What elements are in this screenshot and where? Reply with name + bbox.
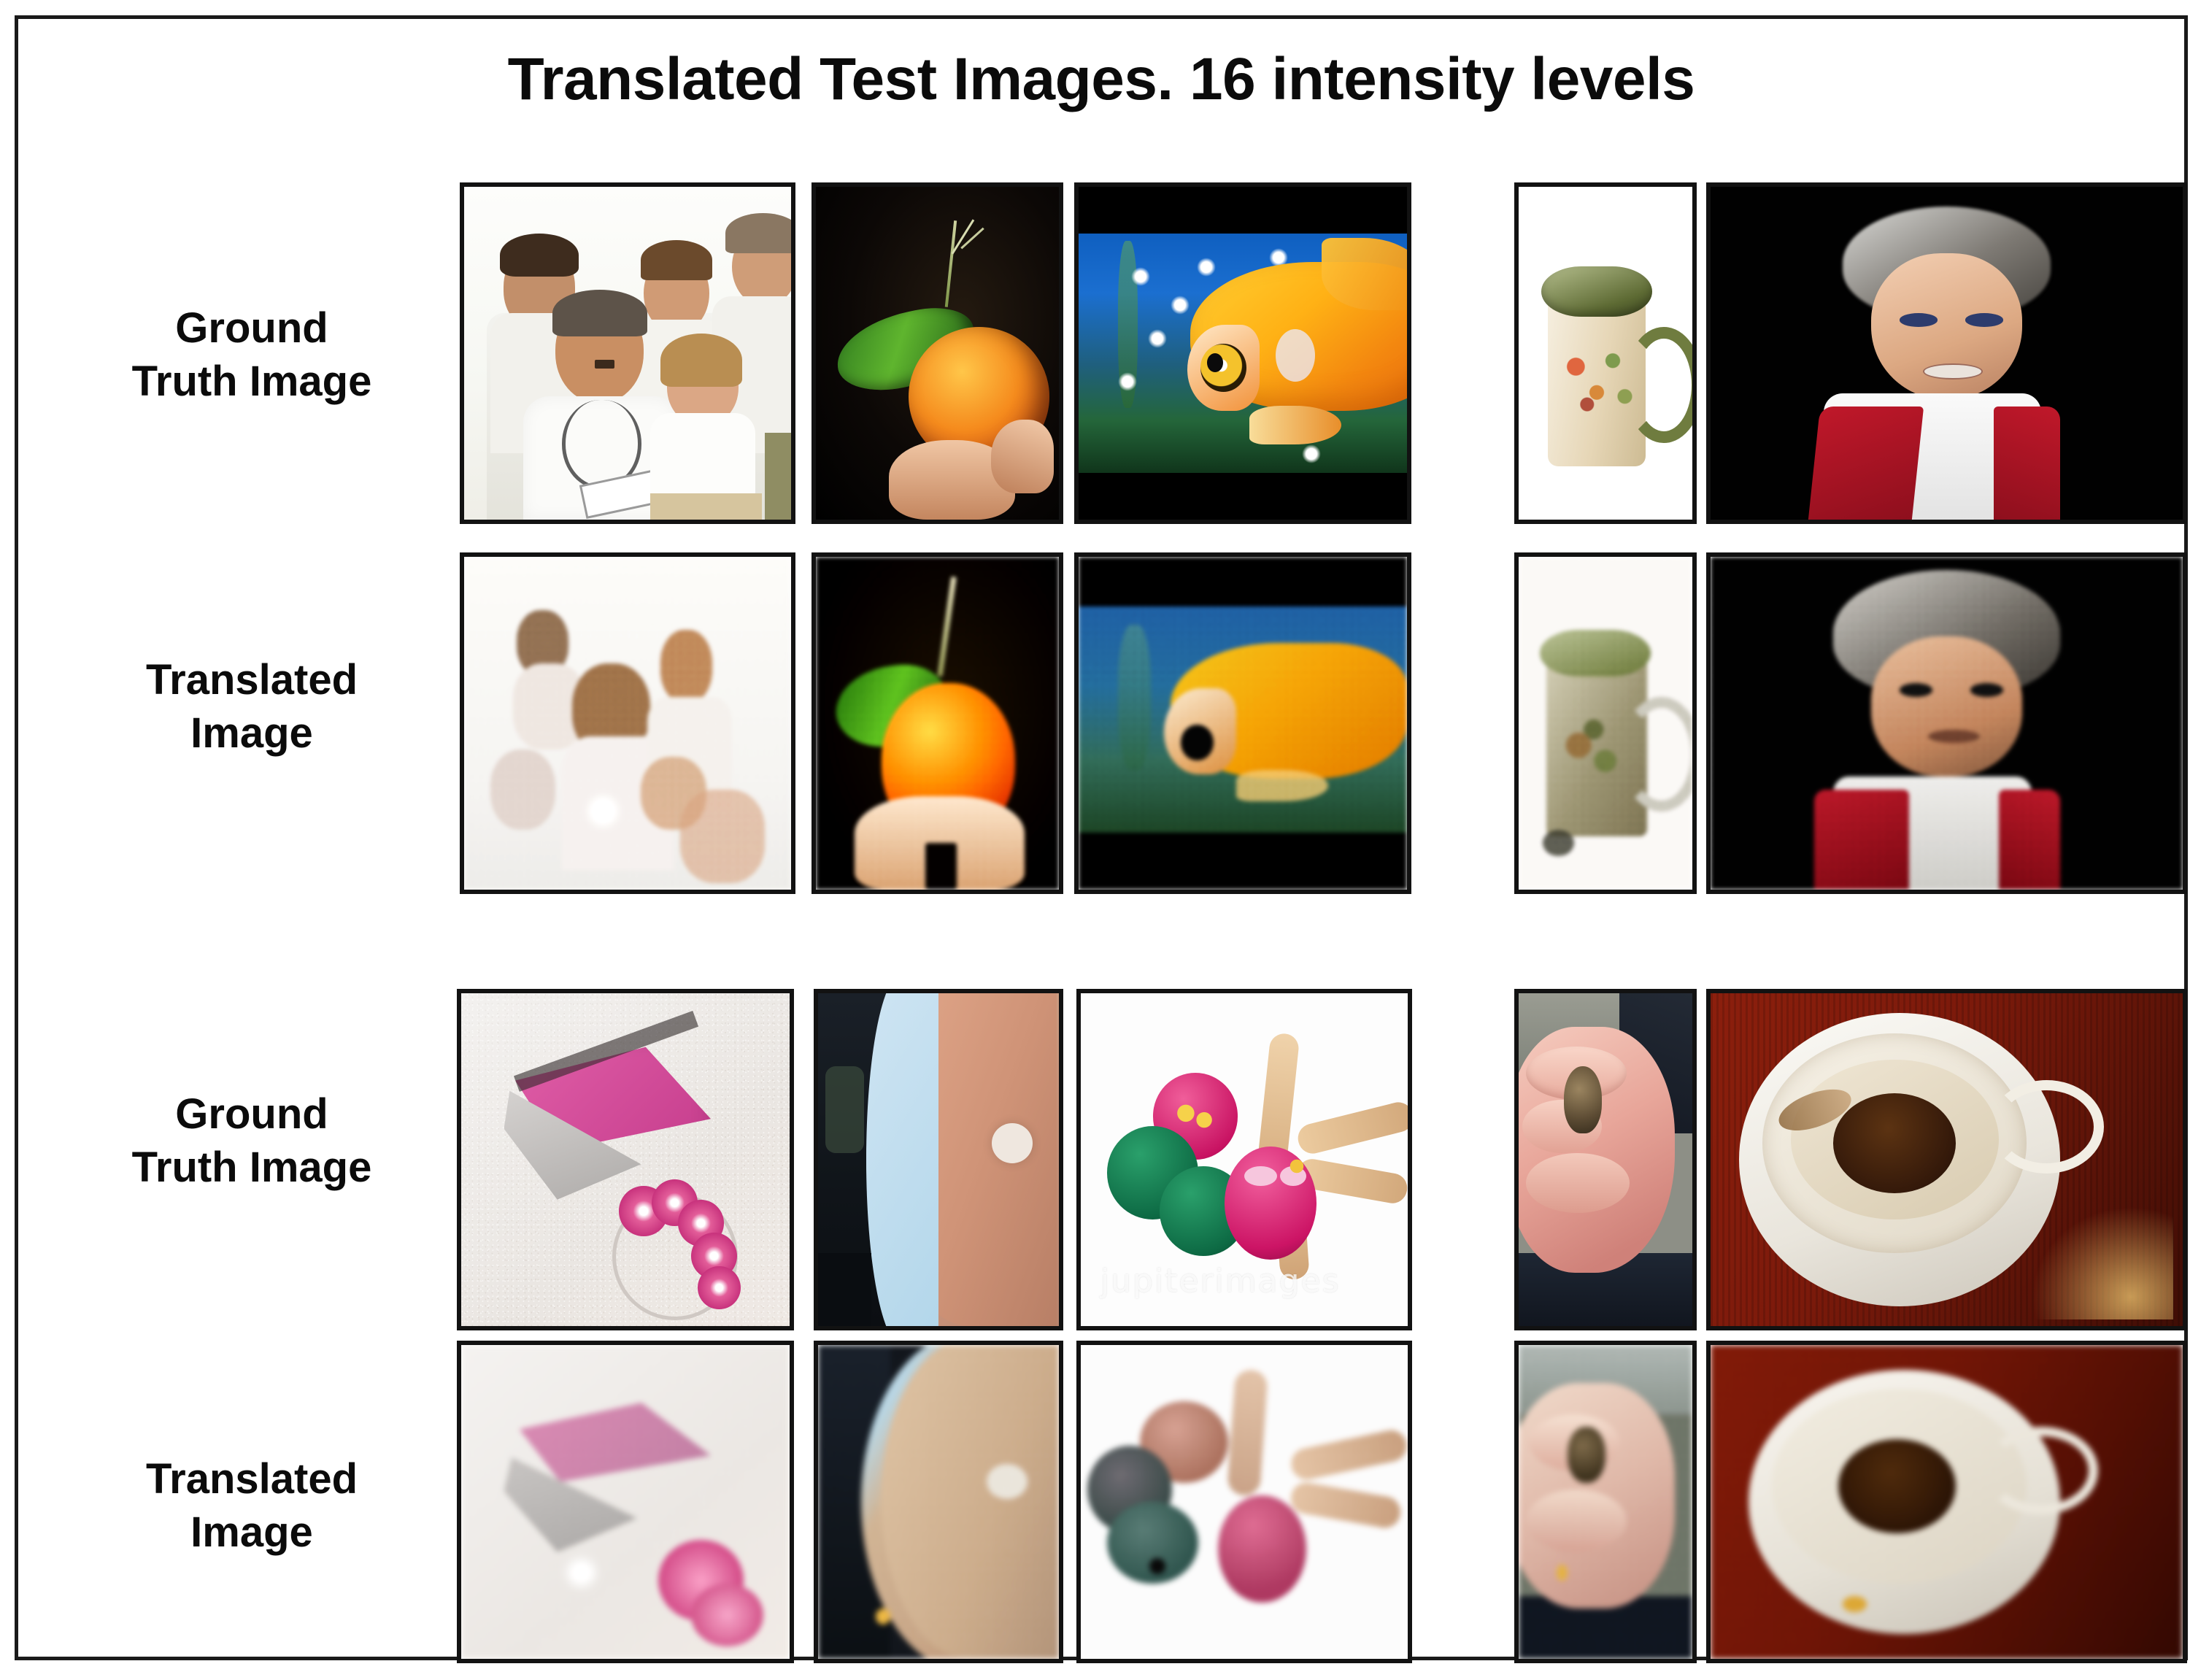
arm-with-round-patch-translated [814, 1341, 1063, 1663]
image-content: jupiterimages [1081, 993, 1408, 1326]
goldfish-aquarium [1074, 182, 1411, 524]
image-content [816, 187, 1059, 520]
glitter-clutch-and-flower-crown [457, 989, 794, 1330]
image-content [1079, 557, 1407, 890]
elderly-woman-portrait-translated [1706, 552, 2187, 894]
image-content [1711, 557, 2183, 890]
image-content [1711, 1345, 2183, 1659]
glitter-clutch-and-flower-crown-translated [457, 1341, 794, 1663]
row-label-ground-truth-2: Ground Truth Image [62, 1088, 442, 1194]
row-label-line2: Image [62, 1506, 442, 1560]
row-label-ground-truth-1: Ground Truth Image [62, 302, 442, 408]
image-content [461, 993, 790, 1326]
hand-holding-toad [1514, 989, 1697, 1330]
image-content [1519, 993, 1692, 1326]
image-content [816, 557, 1059, 890]
empty-coffee-cup-on-saucer [1706, 989, 2187, 1330]
medical-team-photo-translated [460, 552, 795, 894]
image-content [464, 557, 791, 890]
page-title: Translated Test Images. 16 intensity lev… [18, 45, 2184, 114]
floral-mug-with-lid-translated [1514, 552, 1697, 894]
empty-coffee-cup-on-saucer-translated [1706, 1341, 2187, 1663]
hand-holding-tangerine [811, 182, 1063, 524]
image-content [1081, 1345, 1408, 1659]
hand-holding-toad-translated [1514, 1341, 1697, 1663]
row-label-line1: Ground [62, 302, 442, 355]
row-label-line2: Truth Image [62, 1141, 442, 1195]
image-content [818, 1345, 1059, 1659]
row-label-line1: Ground [62, 1088, 442, 1141]
painted-maracas: jupiterimages [1076, 989, 1412, 1330]
row-label-line1: Translated [62, 654, 442, 707]
elderly-woman-portrait [1706, 182, 2187, 524]
row-label-line2: Truth Image [62, 355, 442, 409]
image-content [1519, 187, 1692, 520]
image-content [818, 993, 1059, 1326]
painted-maracas-translated [1076, 1341, 1412, 1663]
watermark-text: jupiterimages [1100, 1263, 1388, 1300]
image-content [461, 1345, 790, 1659]
image-content [1711, 993, 2183, 1326]
image-content [1519, 1345, 1692, 1659]
floral-mug-with-lid [1514, 182, 1697, 524]
arm-with-round-patch [814, 989, 1063, 1330]
image-content [464, 187, 791, 520]
image-content [1711, 187, 2183, 520]
row-label-line1: Translated [62, 1453, 442, 1506]
medical-team-photo [460, 182, 795, 524]
row-label-translated-2: Translated Image [62, 1453, 442, 1559]
row-label-line2: Image [62, 707, 442, 760]
goldfish-aquarium-translated [1074, 552, 1411, 894]
image-content [1519, 557, 1692, 890]
hand-holding-tangerine-translated [811, 552, 1063, 894]
row-label-translated-1: Translated Image [62, 654, 442, 760]
figure-frame: Translated Test Images. 16 intensity lev… [15, 15, 2188, 1660]
image-content [1079, 187, 1407, 520]
